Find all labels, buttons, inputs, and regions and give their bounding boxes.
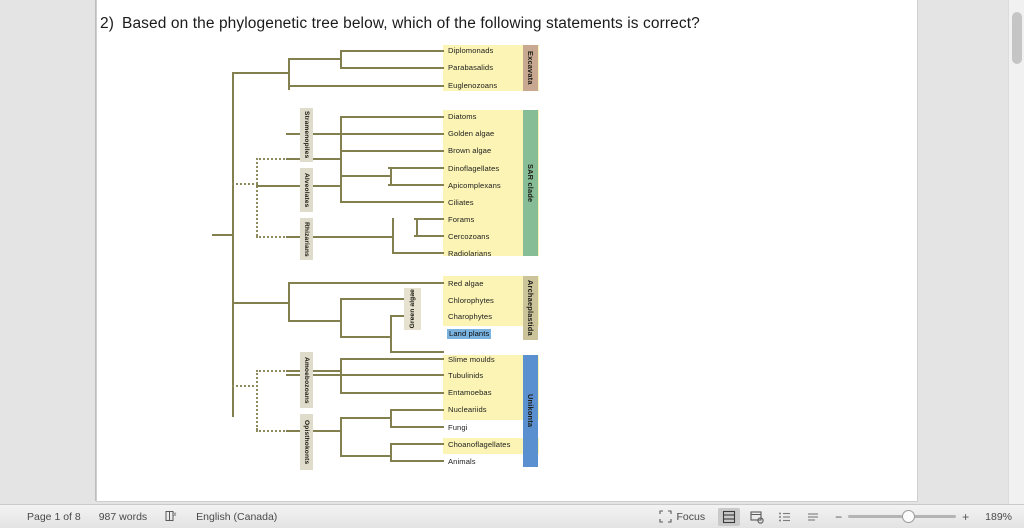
branch-alveolates-stem xyxy=(256,185,342,187)
branch-animals xyxy=(390,460,444,462)
draft-icon xyxy=(806,510,820,524)
branch-root-trunk xyxy=(232,72,234,417)
branch-forams xyxy=(414,218,444,220)
view-draft-button[interactable] xyxy=(802,508,824,526)
clade-label-archaeplastida: Archaeplastida xyxy=(526,280,535,336)
tip-label-cercozoans: Cercozoans xyxy=(448,232,490,242)
branch-choano-animal-stem xyxy=(340,455,392,457)
branch-amoebozoans-node xyxy=(340,358,342,394)
view-web-layout-button[interactable] xyxy=(746,508,768,526)
tip-label-animals: Animals xyxy=(448,457,476,467)
branch-apicomplexans xyxy=(388,184,444,186)
tip-label-nucleariids: Nucleariids xyxy=(448,405,487,415)
web-layout-icon xyxy=(750,510,764,524)
tip-label-ciliates: Ciliates xyxy=(448,198,474,208)
zoom-level-label[interactable]: 189% xyxy=(977,511,1012,523)
tip-label-land-plants[interactable]: Land plants xyxy=(447,329,491,339)
branch-opisthokonts-inner xyxy=(286,430,342,432)
branch-amoebozoa-stem xyxy=(256,370,288,372)
branch-radiolarians xyxy=(392,252,444,254)
zoom-slider-thumb[interactable] xyxy=(902,510,915,523)
vertical-scrollbar[interactable] xyxy=(1008,0,1024,504)
tip-label-dinoflagellates: Dinoflagellates xyxy=(448,164,499,174)
branch-root-stem xyxy=(212,234,234,236)
tip-label-tubulinids: Tubulinids xyxy=(448,371,483,381)
status-bar: Page 1 of 8 987 words x English (Canada)… xyxy=(0,504,1024,528)
branch-opisthokonts-stem xyxy=(256,430,288,432)
tip-label-fungi: Fungi xyxy=(448,423,468,433)
branch-cercozoans xyxy=(414,235,444,237)
branch-charo-land-node xyxy=(390,315,392,353)
group-text-green-algae: Green algae xyxy=(409,289,416,328)
branch-nuc-fungi-stem xyxy=(340,417,392,419)
branch-dinoflagellates xyxy=(388,167,444,169)
branch-foram-cerco-node xyxy=(416,218,418,236)
tip-label-slime-moulds: Slime moulds xyxy=(448,355,495,365)
branch-stramenopiles-node xyxy=(340,116,342,168)
view-print-layout-button[interactable] xyxy=(718,508,740,526)
group-label-opisthokonts: Opisthokonts xyxy=(300,414,313,470)
tip-label-golden-algae: Golden algae xyxy=(448,129,494,139)
tip-label-red-algae: Red algae xyxy=(448,279,484,289)
zoom-slider-control[interactable]: − + xyxy=(827,510,977,524)
clade-label-unikonta: Unikonta xyxy=(526,394,535,427)
branch-strame-stem xyxy=(256,158,288,160)
tip-label-entamoebas: Entamoebas xyxy=(448,388,492,398)
branch-opisthokonts-node xyxy=(340,417,342,457)
language-indicator[interactable]: English (Canada) xyxy=(187,511,286,523)
branch-diplo-para-stem xyxy=(288,58,342,60)
zoom-slider-track[interactable] xyxy=(848,515,956,518)
branch-red-algae xyxy=(288,282,444,284)
group-text-rhizarians: Rhizarians xyxy=(303,222,310,257)
clade-label-excavata: Excavata xyxy=(526,51,535,85)
tip-label-brown-algae: Brown algae xyxy=(448,146,491,156)
clade-bar-excavata: Excavata xyxy=(523,45,538,91)
tip-label-diatoms: Diatoms xyxy=(448,112,477,122)
group-text-stramenopiles: Stramenopiles xyxy=(303,111,310,158)
branch-ciliates xyxy=(340,201,444,203)
branch-amoebozoans-inner xyxy=(286,370,342,372)
group-text-alveolates: Alveolates xyxy=(303,173,310,208)
tip-label-chlorophytes: Chlorophytes xyxy=(448,296,494,306)
question-text: Based on the phylogenetic tree below, wh… xyxy=(122,15,700,32)
branch-entamoebas xyxy=(340,392,444,394)
group-label-amoebozoans: Amoebozoans xyxy=(300,352,313,408)
branch-sar-node xyxy=(256,158,258,236)
branch-euglenozoans xyxy=(288,85,444,87)
branch-green-algae-node xyxy=(340,298,342,338)
tip-label-forams: Forams xyxy=(448,215,474,225)
proofing-errors-icon[interactable]: x xyxy=(156,510,187,523)
clade-bar-unikonta: Unikonta xyxy=(523,355,538,467)
zoom-out-button[interactable]: − xyxy=(835,510,842,524)
svg-text:x: x xyxy=(174,512,177,518)
outline-icon xyxy=(778,510,792,524)
scrollbar-thumb[interactable] xyxy=(1012,12,1022,64)
branch-excavata-stem xyxy=(232,72,290,74)
branch-rhizarians-node xyxy=(392,218,394,254)
group-text-amoebozoans: Amoebozoans xyxy=(303,357,310,404)
print-layout-icon xyxy=(722,510,736,524)
branch-diplo-para-node xyxy=(340,50,342,68)
word-count[interactable]: 987 words xyxy=(90,511,156,523)
question-number: 2) xyxy=(100,15,122,33)
branch-land-plants xyxy=(390,351,444,353)
branch-green-algae-stem xyxy=(288,320,342,322)
tip-label-radiolarians: Radiolarians xyxy=(448,249,491,259)
branch-nucleariids xyxy=(390,409,444,411)
focus-icon xyxy=(659,510,672,523)
tip-label-diplomonads: Diplomonads xyxy=(448,46,493,56)
view-outline-button[interactable] xyxy=(774,508,796,526)
group-label-alveolates: Alveolates xyxy=(300,168,313,212)
clade-bar-sar: SAR clade xyxy=(523,110,538,256)
branch-archaeplastida-node xyxy=(288,282,290,322)
page-indicator[interactable]: Page 1 of 8 xyxy=(18,511,90,523)
clade-label-sar: SAR clade xyxy=(526,164,535,202)
tip-label-euglenozoans: Euglenozoans xyxy=(448,81,497,91)
branch-sar-stem xyxy=(232,183,258,185)
tip-label-apicomplexans: Apicomplexans xyxy=(448,181,501,191)
branch-choano-animal-node xyxy=(390,443,392,461)
branch-slime-moulds xyxy=(340,358,444,360)
clade-bar-archaeplastida: Archaeplastida xyxy=(523,276,538,340)
focus-mode-button[interactable]: Focus xyxy=(649,510,716,523)
branch-diatoms xyxy=(340,116,444,118)
word-document-window: 2)Based on the phylogenetic tree below, … xyxy=(0,0,1024,528)
group-label-rhizarians: Rhizarians xyxy=(300,218,313,260)
focus-label: Focus xyxy=(677,511,706,523)
branch-parabasalids xyxy=(340,67,444,69)
tip-label-parabasalids: Parabasalids xyxy=(448,63,493,73)
group-label-green-algae: Green algae xyxy=(404,288,421,330)
group-text-opisthokonts: Opisthokonts xyxy=(303,420,310,464)
branch-stramenopiles-stem xyxy=(286,158,342,160)
branch-dino-api-stem xyxy=(340,175,390,177)
branch-archaeplastida-stem xyxy=(232,302,290,304)
branch-dino-api-node xyxy=(390,167,392,185)
branch-choanoflagellates xyxy=(390,443,444,445)
phylogenetic-tree-figure[interactable]: Diplomonads Parabasalids Euglenozoans Ex… xyxy=(120,40,560,482)
tip-label-choanoflagellates: Choanoflagellates xyxy=(448,440,511,450)
branch-rhizaria-stem xyxy=(256,236,288,238)
branch-nuc-fungi-node xyxy=(390,409,392,427)
branch-alveolates-node xyxy=(340,167,342,203)
zoom-in-button[interactable]: + xyxy=(962,510,969,524)
tip-label-charophytes: Charophytes xyxy=(448,312,492,322)
branch-charo-land-stem xyxy=(340,336,392,338)
branch-unikonta-node xyxy=(256,370,258,430)
branch-unikonta-stem xyxy=(232,385,258,387)
group-label-stramenopiles: Stramenopiles xyxy=(300,108,313,162)
branch-fungi xyxy=(390,426,444,428)
branch-diplomonads xyxy=(340,50,444,52)
question-line[interactable]: 2)Based on the phylogenetic tree below, … xyxy=(100,15,820,33)
branch-brown-algae xyxy=(340,150,444,152)
